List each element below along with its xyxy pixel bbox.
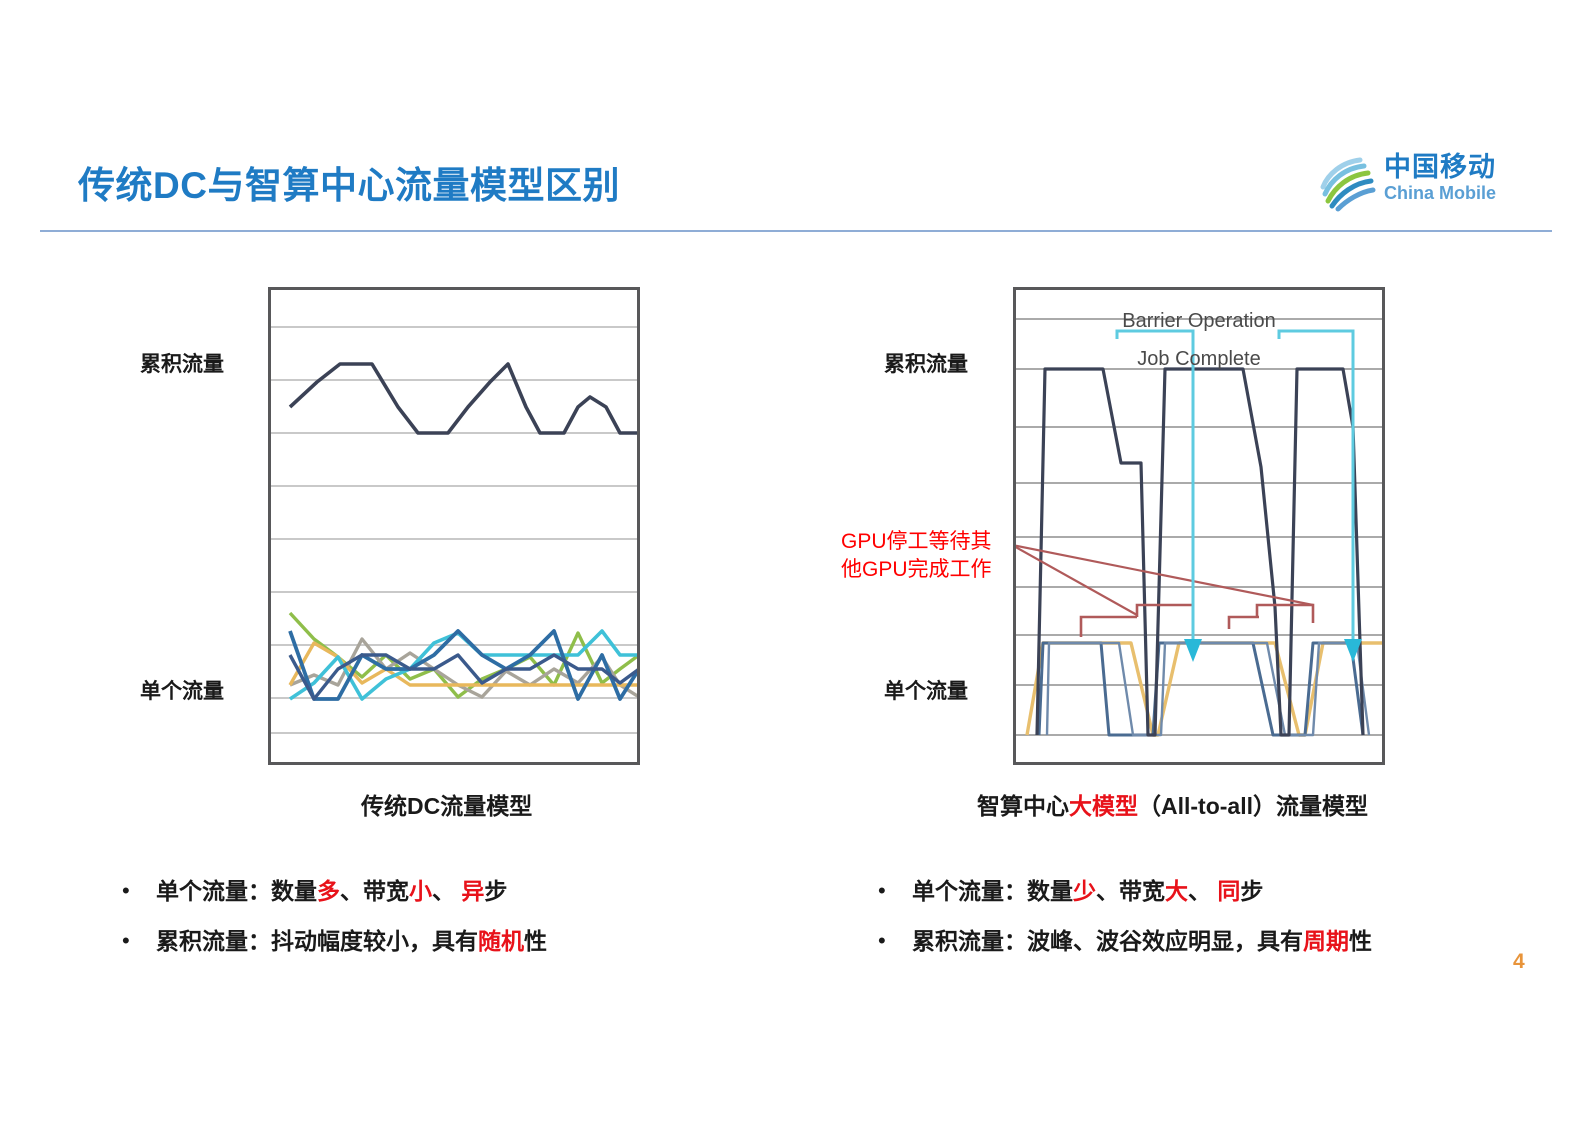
left-chart-caption: 传统DC流量模型 (361, 787, 532, 821)
left-bullet-item: •累积流量：抖动幅度较小，具有随机性 (122, 926, 547, 956)
left-bullet-0-part-0: 单个流量：数量 (156, 878, 317, 904)
job-complete-label: Job Complete (1137, 348, 1260, 370)
left-chart-individual-label: 单个流量 (140, 675, 224, 705)
right-chart-cumulative-label: 累积流量 (884, 348, 968, 378)
right-bullet-0-part-1: 少 (1073, 878, 1096, 904)
left-bullet-1-part-2: 性 (524, 928, 547, 954)
right-chart-caption: 智算中心大模型（All-to-all）流量模型 (977, 787, 1368, 821)
right-bullet-text: 累积流量：波峰、波谷效应明显，具有周期性 (912, 926, 1372, 956)
right-bullet-item: •累积流量：波峰、波谷效应明显，具有周期性 (878, 926, 1372, 956)
gpu-wait-annotation-line2: 他GPU完成工作 (841, 556, 992, 584)
traditional-dc-chart (268, 287, 640, 765)
bullet-dot-icon: • (878, 926, 912, 956)
logo-english-text: China Mobile (1384, 182, 1518, 204)
left-chart-cumulative-label: 累积流量 (140, 348, 224, 378)
left-bullet-0-part-4: 、 (432, 878, 461, 904)
barrier-operation-label: Barrier Operation (1122, 310, 1275, 332)
gpu-wait-annotation: GPU停工等待其 他GPU完成工作 (841, 528, 992, 584)
right-bullet-1-part-2: 性 (1349, 928, 1372, 954)
left-bullet-1-part-0: 累积流量：抖动幅度较小，具有 (156, 928, 478, 954)
right-bullet-0-part-6: 步 (1240, 878, 1263, 904)
aigc-all-to-all-chart: Barrier Operation Job Complete (1013, 287, 1385, 765)
bullet-dot-icon: • (122, 876, 156, 906)
right-bullet-0-part-2: 、带宽 (1096, 878, 1165, 904)
right-bullet-0-part-3: 大 (1165, 878, 1188, 904)
right-caption-part-2: （All-to-all）流量模型 (1138, 793, 1368, 819)
page-number: 4 (1513, 950, 1525, 974)
left-bullet-0-part-1: 多 (317, 878, 340, 904)
right-chart-individual-label: 单个流量 (884, 675, 968, 705)
left-bullet-text: 单个流量：数量多、带宽小、 异步 (156, 876, 507, 906)
china-mobile-logo: 中国移动 China Mobile (1318, 152, 1518, 214)
right-bullet-text: 单个流量：数量少、带宽大、 同步 (912, 876, 1263, 906)
bullet-dot-icon: • (878, 876, 912, 906)
right-bullet-1-part-1: 周期 (1303, 928, 1349, 954)
left-bullet-0-part-3: 小 (409, 878, 432, 904)
right-bullet-item: •单个流量：数量少、带宽大、 同步 (878, 876, 1372, 906)
right-bullet-list: •单个流量：数量少、带宽大、 同步•累积流量：波峰、波谷效应明显，具有周期性 (878, 876, 1372, 976)
header-divider (40, 230, 1552, 232)
china-mobile-wordmark: 中国移动 China Mobile (1384, 152, 1518, 204)
left-bullet-1-part-1: 随机 (478, 928, 524, 954)
right-bullet-1-part-0: 累积流量：波峰、波谷效应明显，具有 (912, 928, 1303, 954)
right-bullet-0-part-5: 同 (1217, 878, 1240, 904)
china-mobile-mark-icon (1318, 154, 1376, 212)
left-bullet-list: •单个流量：数量多、带宽小、 异步•累积流量：抖动幅度较小，具有随机性 (122, 876, 547, 976)
right-bullet-0-part-4: 、 (1188, 878, 1217, 904)
left-bullet-0-part-6: 步 (484, 878, 507, 904)
gpu-wait-annotation-line1: GPU停工等待其 (841, 528, 992, 556)
right-caption-part-0: 智算中心 (977, 793, 1069, 819)
left-bullet-0-part-2: 、带宽 (340, 878, 409, 904)
left-bullet-0-part-5: 异 (461, 878, 484, 904)
logo-chinese-text: 中国移动 (1384, 152, 1518, 182)
left-bullet-item: •单个流量：数量多、带宽小、 异步 (122, 876, 547, 906)
left-bullet-text: 累积流量：抖动幅度较小，具有随机性 (156, 926, 547, 956)
right-caption-part-1: 大模型 (1069, 793, 1138, 819)
page-title: 传统DC与智算中心流量模型区别 (78, 155, 620, 209)
bullet-dot-icon: • (122, 926, 156, 956)
right-bullet-0-part-0: 单个流量：数量 (912, 878, 1073, 904)
